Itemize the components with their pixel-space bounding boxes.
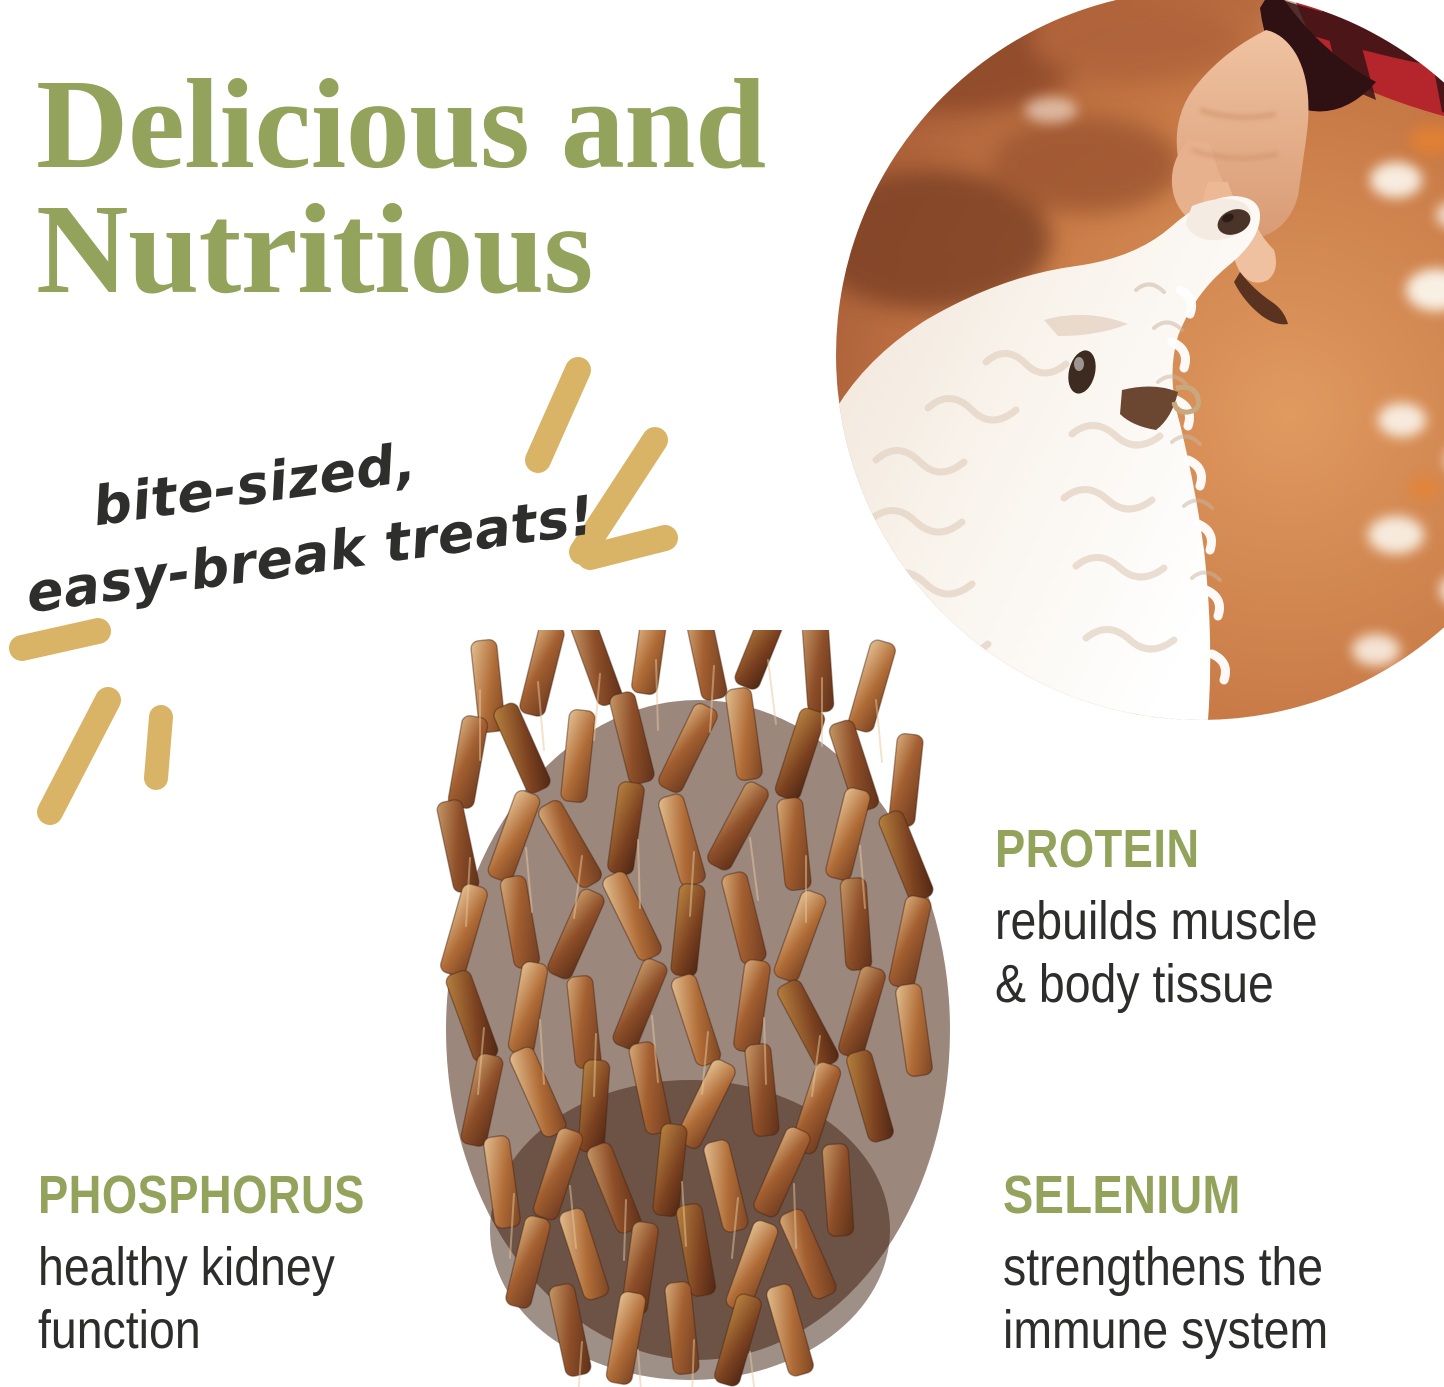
page-title: Delicious and Nutritious xyxy=(36,62,836,313)
benefit-phosphorus: PHOSPHORUS healthy kidney function xyxy=(38,1168,427,1362)
headline-line-1: Delicious and xyxy=(36,62,836,187)
benefit-protein-body-line-2: & body tissue xyxy=(995,953,1318,1016)
product-infographic-canvas: Delicious and Nutritious bite-sized, eas… xyxy=(0,0,1444,1387)
benefit-protein-body-line-1: rebuilds muscle xyxy=(995,890,1318,953)
dog-treat-pile xyxy=(410,630,980,1387)
benefit-selenium: SELENIUM strengthens the immune system xyxy=(1003,1168,1381,1362)
script-callout: bite-sized, easy-break treats! xyxy=(88,398,624,622)
benefit-phosphorus-body-line-1: healthy kidney xyxy=(38,1236,373,1299)
benefit-selenium-body-line-1: strengthens the xyxy=(1003,1236,1328,1299)
benefit-phosphorus-title: PHOSPHORUS xyxy=(38,1168,365,1222)
benefit-selenium-body-line-2: immune system xyxy=(1003,1299,1328,1362)
headline-line-2: Nutritious xyxy=(36,187,836,312)
benefit-phosphorus-body: healthy kidney function xyxy=(38,1236,373,1362)
dog-receiving-treat-photo xyxy=(836,0,1444,720)
benefit-protein-title: PROTEIN xyxy=(995,822,1310,876)
benefit-protein: PROTEIN rebuilds muscle & body tissue xyxy=(995,822,1370,1016)
benefit-protein-body: rebuilds muscle & body tissue xyxy=(995,890,1318,1016)
benefit-selenium-body: strengthens the immune system xyxy=(1003,1236,1328,1362)
benefit-selenium-title: SELENIUM xyxy=(1003,1168,1321,1222)
benefit-phosphorus-body-line-2: function xyxy=(38,1299,373,1362)
